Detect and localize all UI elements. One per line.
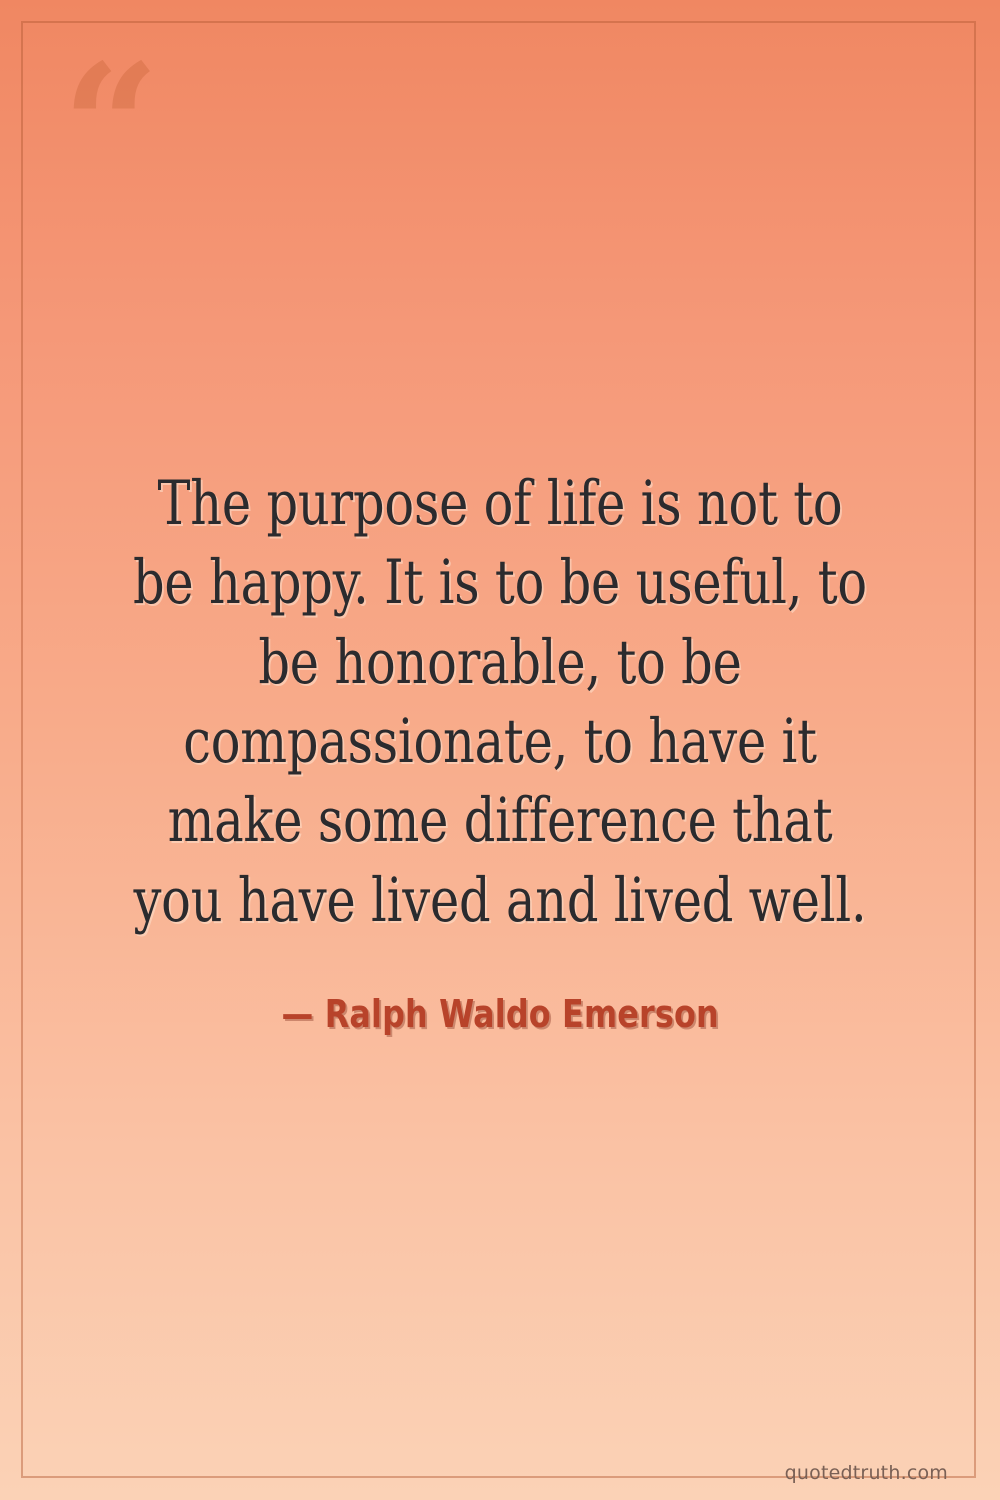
quote-card: “ The purpose of life is not to be happy… [0,0,1000,1500]
author-attribution: — Ralph Waldo Emerson [281,992,718,1036]
site-watermark: quotedtruth.com [785,1462,948,1484]
quote-text: The purpose of life is not to be happy. … [126,464,875,940]
quote-content-block: The purpose of life is not to be happy. … [0,0,1000,1500]
